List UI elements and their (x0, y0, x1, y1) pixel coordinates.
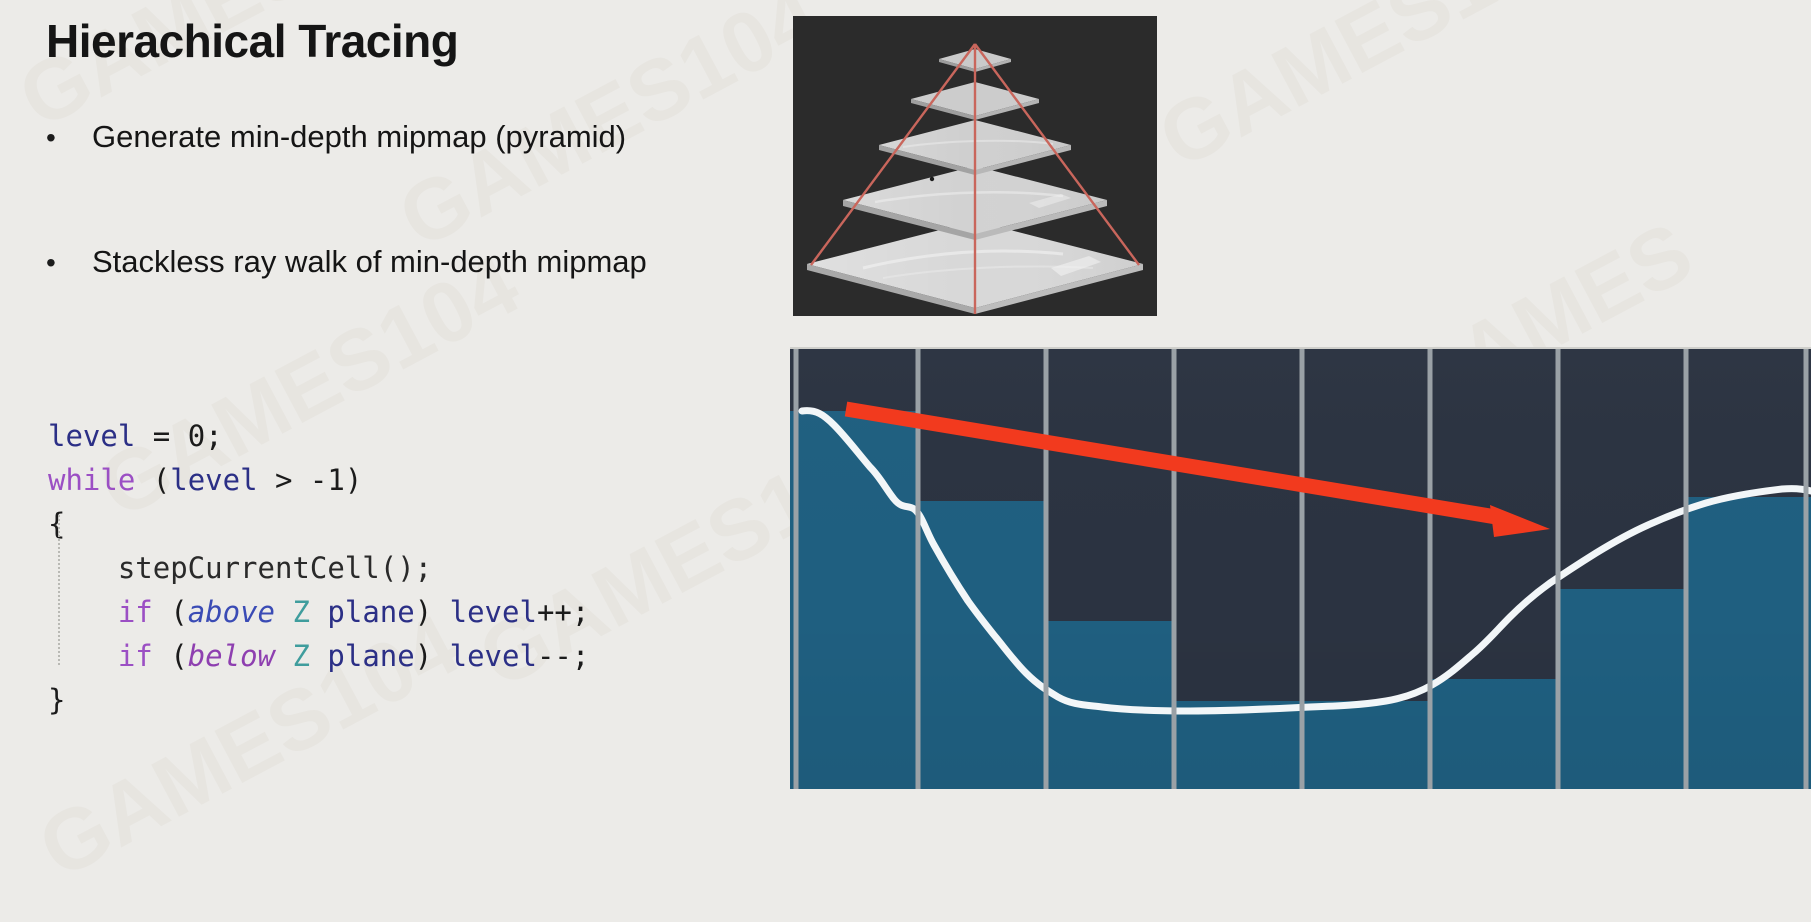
pyramid-probe-dot (930, 177, 934, 181)
slide-canvas: GAMES104 GAMES104 GAMES104 GAMES104 GAME… (0, 0, 1811, 922)
code-line-6: } (48, 678, 589, 722)
code-token: ; (205, 419, 222, 453)
code-token: above (188, 595, 275, 629)
code-token (275, 639, 292, 673)
code-token: ( (153, 639, 188, 673)
code-token: if (118, 639, 153, 673)
code-token: ) (415, 595, 450, 629)
code-token (310, 595, 327, 629)
code-token: level (450, 639, 537, 673)
bullet-item-1: • Stackless ray walk of min-depth mipmap (46, 245, 647, 279)
code-token: if (118, 595, 153, 629)
code-line-4: if (above Z plane) level++; (48, 590, 589, 634)
code-line-5: if (below Z plane) level--; (48, 634, 589, 678)
code-token (310, 639, 327, 673)
code-token: plane (327, 639, 414, 673)
bullet-marker-icon: • (46, 124, 92, 152)
code-token: --; (537, 639, 589, 673)
code-line-1: while (level > -1) (48, 458, 589, 502)
code-token: level (48, 419, 135, 453)
code-token: 0 (188, 419, 205, 453)
bullet-label-1: Stackless ray walk of min-depth mipmap (92, 245, 647, 279)
slide-left-column: Hierachical Tracing • Generate min-depth… (0, 0, 790, 922)
pyramid-mipmap-figure (793, 16, 1157, 316)
code-token: ( (153, 595, 188, 629)
bullet-item-0: • Generate min-depth mipmap (pyramid) (46, 120, 626, 154)
code-indent-guide (58, 515, 60, 665)
code-line-3: stepCurrentCell(); (48, 546, 589, 590)
code-line-0: level = 0; (48, 414, 589, 458)
code-token: while (48, 463, 135, 497)
heightfield-raywalk-figure (790, 347, 1811, 789)
code-token: ) (415, 639, 450, 673)
code-token (275, 595, 292, 629)
code-token: { (48, 507, 65, 541)
code-token: = (135, 419, 187, 453)
code-token: plane (327, 595, 414, 629)
code-token: stepCurrentCell(); (48, 551, 432, 585)
code-token: } (48, 683, 65, 717)
code-token: below (188, 639, 275, 673)
pyramid-illustration (793, 16, 1157, 316)
code-token: ( (135, 463, 170, 497)
bullet-marker-icon: • (46, 249, 92, 277)
code-token: level (450, 595, 537, 629)
code-token: Z (292, 639, 309, 673)
page-title: Hierachical Tracing (46, 14, 458, 68)
heightfield-illustration (790, 349, 1811, 789)
bullet-label-0: Generate min-depth mipmap (pyramid) (92, 120, 626, 154)
code-line-2: { (48, 502, 589, 546)
code-block: level = 0;while (level > -1){ stepCurren… (48, 414, 589, 722)
code-token: Z (292, 595, 309, 629)
code-token: ++; (537, 595, 589, 629)
code-token: level (170, 463, 257, 497)
code-token: > -1) (258, 463, 363, 497)
